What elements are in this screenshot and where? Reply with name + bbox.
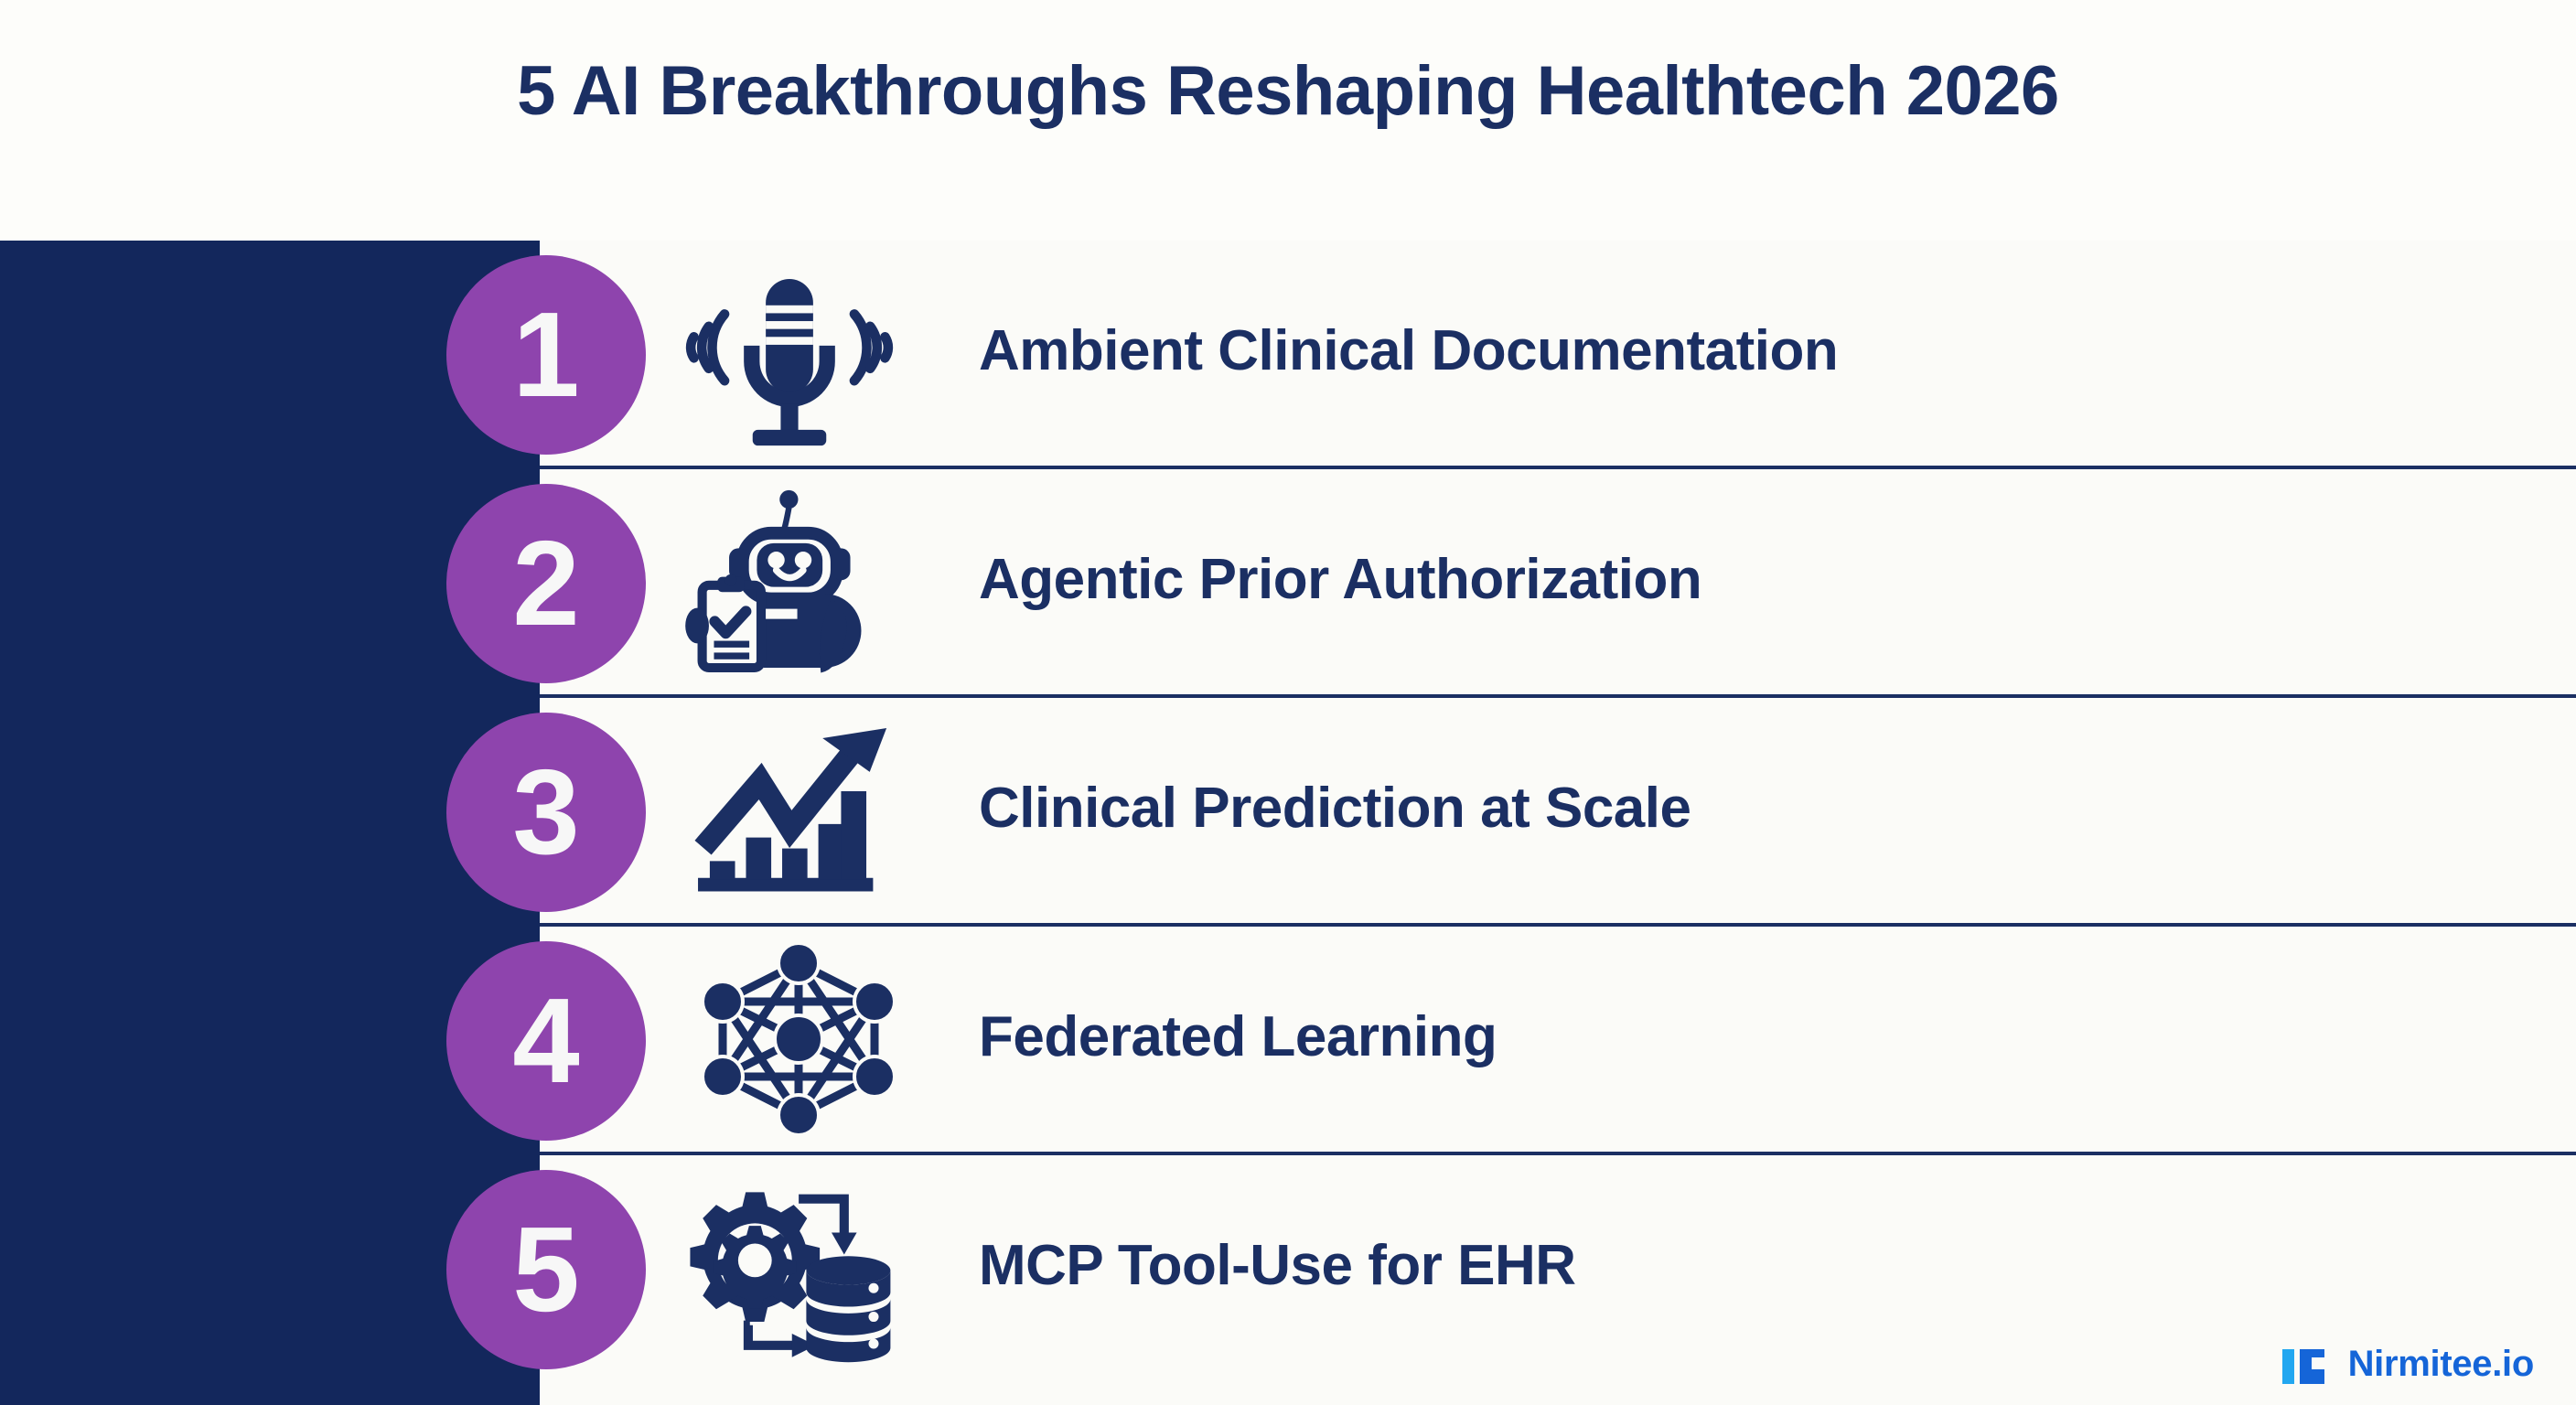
list-item-label: Agentic Prior Authorization — [979, 547, 1701, 612]
bar-chart-growth-arrow-icon — [688, 716, 898, 908]
microphone-waves-icon — [684, 268, 895, 460]
list-item-number-badge: 4 — [446, 941, 646, 1141]
infographic-canvas: 5 AI Breakthroughs Reshaping Healthtech … — [0, 0, 2576, 1405]
list-item-label: Clinical Prediction at Scale — [979, 776, 1691, 841]
list-item-label: Federated Learning — [979, 1004, 1497, 1069]
list-item[interactable]: 1 Ambient Clinical Documentation — [0, 241, 2576, 469]
gear-database-arrows-icon — [684, 1179, 895, 1371]
list-item-label: Ambient Clinical Documentation — [979, 318, 1838, 383]
list-item[interactable]: 5 MCP Tool-Use for EHR — [0, 1155, 2576, 1384]
logo-text: Nirmitee.io — [2348, 1344, 2534, 1385]
list-item-number-badge: 2 — [446, 484, 646, 683]
page-title: 5 AI Breakthroughs Reshaping Healthtech … — [0, 51, 2576, 131]
list-item-number-badge: 5 — [446, 1170, 646, 1369]
list-item-number-badge: 3 — [446, 713, 646, 912]
list-item[interactable]: 4 Federated Learning — [0, 927, 2576, 1155]
list-item-number-badge: 1 — [446, 255, 646, 455]
robot-clipboard-icon — [677, 488, 887, 680]
neural-network-mesh-icon — [693, 943, 904, 1135]
header-band: 5 AI Breakthroughs Reshaping Healthtech … — [0, 0, 2576, 241]
brand-logo[interactable]: Nirmitee.io — [2282, 1344, 2534, 1385]
list-item-label: MCP Tool-Use for EHR — [979, 1233, 1576, 1298]
nirmitee-logo-mark — [2282, 1346, 2334, 1384]
list-item[interactable]: 2 Agentic Prior Authorization — [0, 469, 2576, 698]
list-item[interactable]: 3 Clinical Prediction at Scale — [0, 698, 2576, 927]
